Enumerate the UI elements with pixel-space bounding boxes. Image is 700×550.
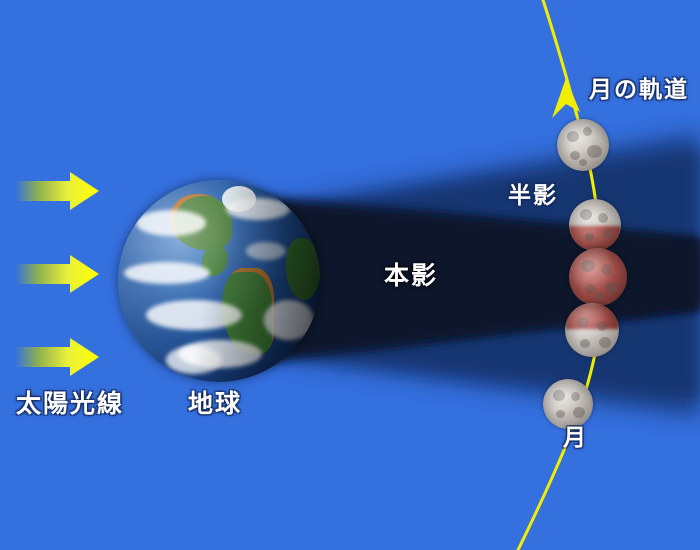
label-penumbra: 半影 [508,176,558,210]
sun-ray-arrow-bottom [15,338,99,376]
orbit-direction-arrowhead [552,78,580,118]
lunar-eclipse-diagram: 太陽光線 地球 本影 半影 月の軌道 月 [0,0,700,550]
label-moon-orbit: 月の軌道 [589,70,689,104]
earth-globe [118,180,320,382]
moon-position-4 [565,303,619,357]
label-earth: 地球 [188,384,242,420]
moon-position-5 [543,379,593,429]
moon-position-3 [569,248,627,306]
label-umbra: 本影 [384,256,438,292]
moon-shading [565,303,619,357]
moon-shading [569,248,627,306]
moon-position-2 [569,199,621,251]
label-sun-rays: 太陽光線 [16,384,124,420]
sun-ray-arrow-middle [15,255,99,293]
sun-ray-arrow-top [15,172,99,210]
moon-position-1 [557,119,609,171]
moon-shading [543,379,593,429]
moon-shading [557,119,609,171]
earth-terminator-shading [118,180,320,382]
moon-shading [569,199,621,251]
